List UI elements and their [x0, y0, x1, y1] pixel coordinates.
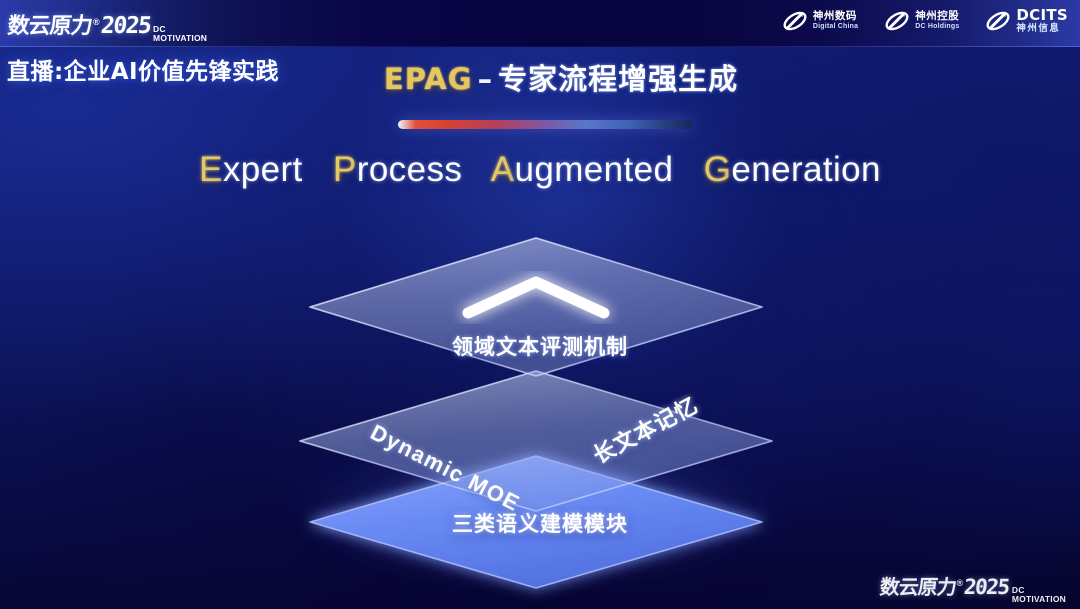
brand-logo: 数云原力 ® 2025 DC MOTIVATION [8, 8, 207, 43]
partner-name-cn: 神州控股 [915, 11, 959, 23]
subtitle-cap-g: G [704, 150, 732, 189]
page-title-chinese: 专家流程增强生成 [498, 62, 738, 96]
partner-name-cn: 神州数码 [813, 11, 858, 23]
subtitle-word-expert: Expert [199, 150, 303, 189]
subtitle-cap-p: P [333, 150, 357, 189]
swirl-logo-icon [884, 8, 910, 34]
subtitle-rest-process: rocess [357, 150, 463, 189]
watermark-tagline-line2: MOTIVATION [1012, 595, 1066, 604]
page-title: EPAG–专家流程增强生成 [0, 56, 1080, 98]
partner-name-cn: DCITS [1016, 7, 1068, 24]
brand-watermark: 数云原力 ® 2025 DC MOTIVATION [880, 571, 1066, 604]
watermark-name-cn: 数云原力 [878, 571, 957, 600]
subtitle-word-generation: Generation [704, 150, 881, 189]
diagram-label-long-text-memory: 长文本记忆 [586, 388, 703, 470]
subtitle-rest-expert: xpert [223, 150, 303, 189]
page-title-dash: – [473, 62, 499, 96]
partner-name-en: Digital China [813, 23, 858, 31]
brand-year: 2025 [99, 13, 151, 39]
partner-logo-dc-holdings: 神州控股 DC Holdings [884, 8, 959, 34]
swirl-logo-icon [782, 8, 808, 34]
partner-name-en: 神州信息 [1016, 24, 1068, 35]
brand-tagline: DC MOTIVATION [153, 25, 207, 42]
partner-logo-text: 神州控股 DC Holdings [915, 11, 959, 31]
partner-logo-group: 神州数码 Digital China 神州控股 DC Holdings [782, 7, 1068, 34]
partner-logo-text: DCITS 神州信息 [1016, 7, 1068, 34]
diagram-layer-middle [300, 371, 772, 511]
subtitle-space-1 [313, 150, 323, 189]
subtitle-cap-e: E [199, 150, 223, 189]
subtitle-space-2 [472, 150, 482, 189]
chevron-up-icon [468, 282, 604, 313]
watermark-year: 2025 [963, 575, 1010, 599]
diagram-label-top: 领域文本评测机制 [0, 331, 1080, 361]
page-title-acronym: EPAG [384, 62, 473, 96]
page-subtitle: Expert Process Augmented Generation [0, 150, 1080, 190]
partner-logo-text: 神州数码 Digital China [813, 11, 858, 31]
diagram-layer-bottom [310, 456, 762, 588]
watermark-reg-mark: ® [957, 578, 964, 588]
subtitle-rest-augmented: ugmented [514, 150, 673, 189]
slide-canvas: 数云原力 ® 2025 DC MOTIVATION 神州数码 [0, 0, 1080, 609]
subtitle-space-3 [683, 150, 693, 189]
title-divider [398, 120, 693, 129]
subtitle-word-augmented: Augmented [491, 150, 674, 189]
brand-name-cn: 数云原力 [6, 8, 93, 40]
diagram-layer-top [310, 238, 762, 376]
subtitle-cap-a: A [491, 150, 515, 189]
partner-logo-dcits: DCITS 神州信息 [985, 7, 1068, 34]
brand-reg-mark: ® [93, 17, 100, 27]
swirl-logo-icon [985, 8, 1011, 34]
partner-logo-digital-china: 神州数码 Digital China [782, 8, 858, 34]
partner-name-en: DC Holdings [915, 23, 959, 31]
brand-tagline-line2: MOTIVATION [153, 34, 207, 43]
subtitle-word-process: Process [333, 150, 462, 189]
diagram-label-bottom: 三类语义建模模块 [0, 508, 1080, 538]
subtitle-rest-generation: eneration [731, 150, 881, 189]
watermark-tagline: DC MOTIVATION [1012, 586, 1066, 603]
header-bar: 数云原力 ® 2025 DC MOTIVATION 神州数码 [0, 0, 1080, 47]
diagram-label-dynamic-moe: Dynamic MOE [366, 419, 524, 517]
